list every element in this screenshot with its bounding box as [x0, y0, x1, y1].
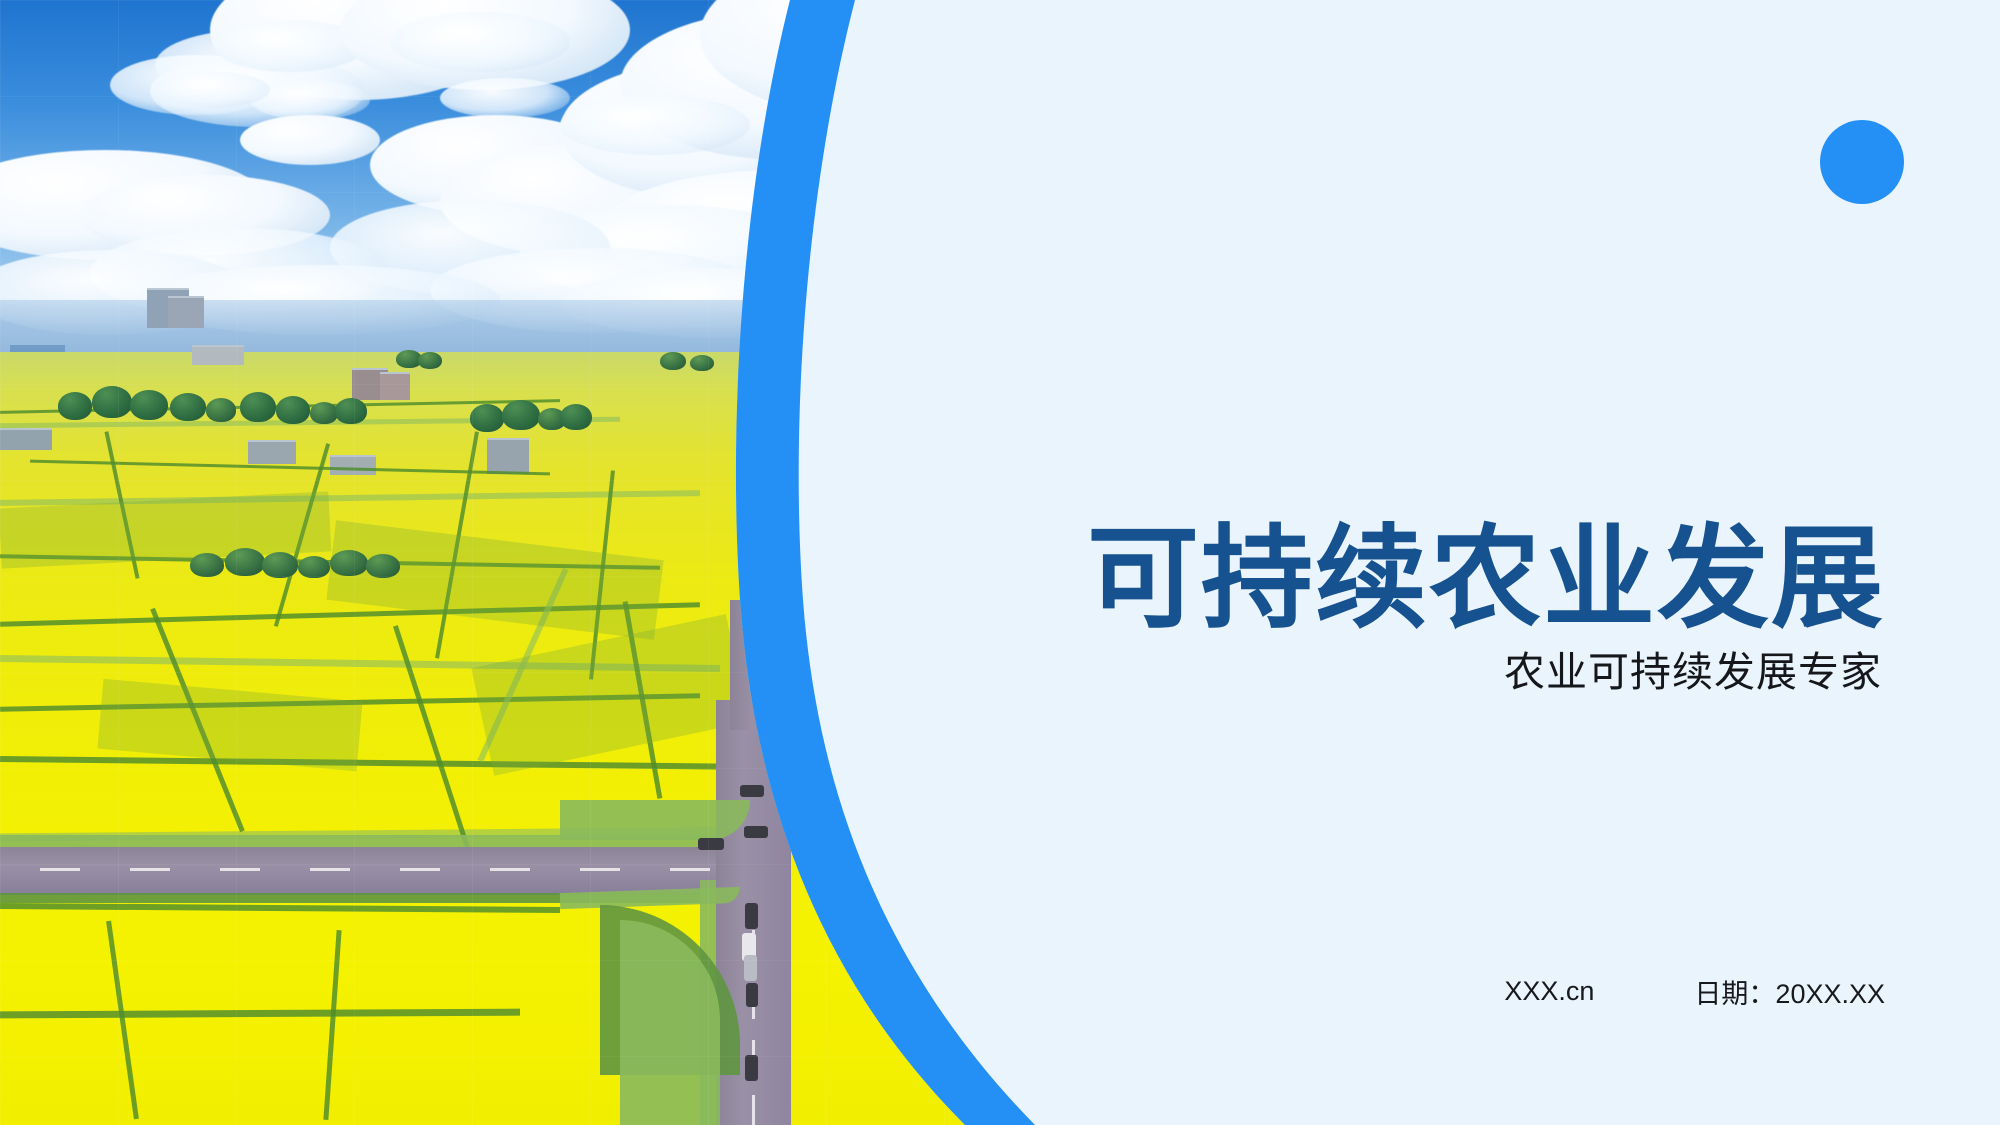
tree-icon: [335, 398, 367, 424]
farm-building: [380, 372, 410, 400]
tree-icon: [58, 392, 92, 420]
lane-marking: [490, 868, 530, 871]
tree-icon: [502, 400, 540, 430]
tree-icon: [560, 404, 592, 430]
tree-icon: [470, 404, 504, 432]
farm-building: [0, 428, 52, 450]
tree-icon: [206, 398, 236, 422]
lane-marking: [220, 868, 260, 871]
tree-icon: [276, 396, 310, 424]
title-slide: 可持续农业发展 农业可持续发展专家 XXX.cn 日期：20XX.XX: [0, 0, 2000, 1125]
farm-building: [168, 296, 204, 328]
car-icon: [746, 983, 758, 1007]
car-icon: [744, 826, 768, 838]
tree-icon: [170, 393, 206, 421]
lane-marking: [670, 868, 710, 871]
lane-marking: [752, 1095, 755, 1125]
highway-vertical: [730, 600, 792, 730]
lane-marking: [310, 868, 350, 871]
decorative-dot-icon: [1820, 120, 1904, 204]
lane-marking: [580, 868, 620, 871]
tree-icon: [660, 352, 686, 370]
cloud-icon: [160, 72, 270, 107]
lane-marking: [400, 868, 440, 871]
car-icon: [740, 785, 764, 797]
farm-building: [192, 345, 244, 365]
tree-icon: [190, 553, 224, 577]
car-icon: [745, 903, 758, 929]
cloud-icon: [240, 115, 380, 165]
page-title: 可持续农业发展: [835, 515, 1885, 644]
cloud-icon: [390, 12, 570, 72]
tree-icon: [262, 552, 298, 578]
footer-date: 日期：20XX.XX: [1694, 972, 1885, 1011]
tree-icon: [690, 355, 714, 371]
car-icon: [744, 955, 757, 981]
cloud-icon: [440, 78, 570, 118]
tree-icon: [130, 390, 168, 420]
tree-icon: [366, 554, 400, 578]
cloud-icon: [560, 95, 750, 155]
car-icon: [698, 838, 724, 850]
tree-icon: [92, 386, 132, 418]
tree-icon: [240, 392, 276, 422]
lane-marking: [130, 868, 170, 871]
tree-icon: [225, 548, 265, 576]
farm-building: [248, 440, 296, 464]
farm-building: [487, 438, 529, 474]
tree-icon: [330, 550, 368, 576]
car-icon: [745, 1055, 758, 1081]
footer: XXX.cn 日期：20XX.XX: [1504, 972, 1885, 1011]
farm-building: [330, 455, 376, 475]
tree-icon: [310, 402, 338, 424]
tree-icon: [298, 556, 330, 578]
footer-site: XXX.cn: [1504, 976, 1594, 1007]
tree-icon: [418, 352, 442, 369]
lane-marking: [40, 868, 80, 871]
highway-horizontal: [0, 847, 780, 895]
road-verge: [560, 800, 750, 840]
page-subtitle: 农业可持续发展专家: [982, 638, 1882, 698]
distant-skyline: [800, 360, 1000, 377]
